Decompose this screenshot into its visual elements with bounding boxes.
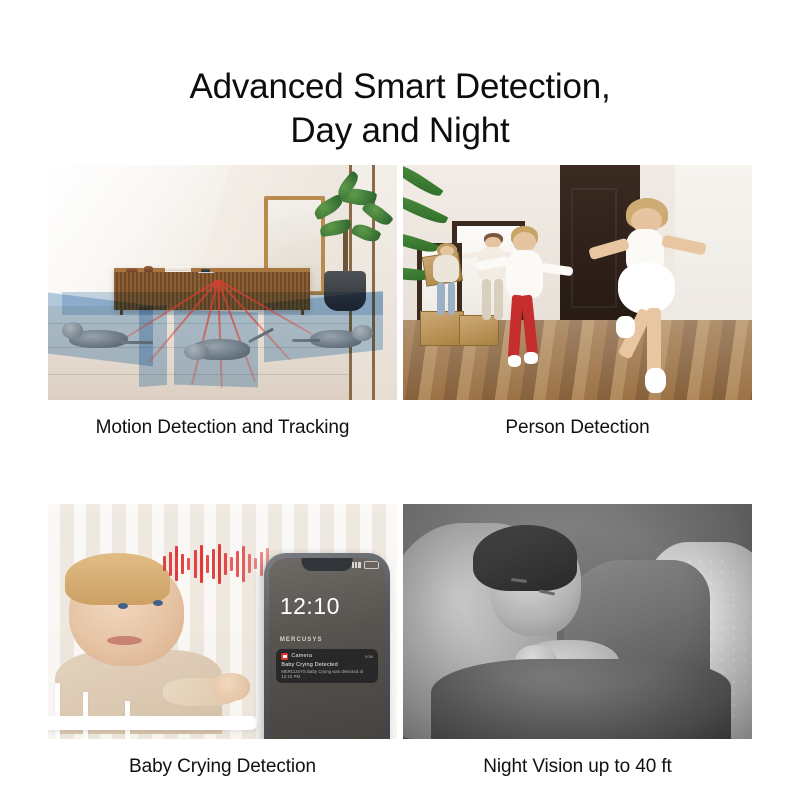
feature-caption-person-detection: Person Detection [403,400,752,440]
notification-card[interactable]: Camera now Baby Crying Detected MERCUSYS… [276,649,378,684]
phone-status-bar [352,561,379,569]
vase [144,266,154,272]
baby-hand [212,673,250,701]
page-title-line-2: Day and Night [0,109,800,153]
cat-head [184,344,208,360]
phone-screen[interactable]: 12:10 MERCUSYS Camera now Baby Crying De… [269,558,385,739]
smartphone[interactable]: 12:10 MERCUSYS Camera now Baby Crying De… [264,553,390,739]
baby-hair [65,553,170,605]
vignette [403,504,752,739]
crib-rail [48,716,257,730]
feature-caption-night-vision: Night Vision up to 40 ft [403,739,752,779]
page-title-line-1: Advanced Smart Detection, [0,65,800,109]
signal-icon [352,562,361,568]
notification-title: Baby Crying Detected [281,662,373,668]
night-vision-scene [403,504,752,739]
cat-head [62,322,83,338]
feature-card-night-vision[interactable]: Night Vision up to 40 ft [403,504,752,779]
living-room-scene [48,165,397,400]
feature-caption-baby-crying-detection: Baby Crying Detection [48,739,397,779]
motion-detection-image [48,165,397,400]
baby-crying-detection-image: 12:10 MERCUSYS Camera now Baby Crying De… [48,504,397,739]
feature-grid: Motion Detection and Tracking [48,165,752,779]
child-figure-girl [595,198,700,395]
cat-tail [121,341,152,344]
hallway-scene [403,165,752,400]
feature-card-person-detection[interactable]: Person Detection [403,165,752,440]
person-detection-image [403,165,752,400]
battery-icon [364,561,379,569]
notification-subtitle: MERCUSYS Baby Crying was detected at 12:… [281,669,373,679]
notification-app-name: Camera [291,653,312,659]
feature-card-baby-crying-detection[interactable]: 12:10 MERCUSYS Camera now Baby Crying De… [48,504,397,779]
cat-tail [292,339,320,342]
security-camera-icon [201,269,210,273]
lockscreen-clock: 12:10 [280,595,340,618]
vase [126,268,138,273]
night-vision-image [403,504,752,739]
page-title: Advanced Smart Detection, Day and Night [0,65,800,153]
notification-timestamp: now [365,654,373,659]
feature-caption-motion-detection: Motion Detection and Tracking [48,400,397,440]
baby-eye [118,603,128,609]
baby-mouth [107,636,142,645]
books [165,270,190,273]
nursery-scene: 12:10 MERCUSYS Camera now Baby Crying De… [48,504,397,739]
cat-head [352,325,373,341]
page-root: Advanced Smart Detection, Day and Night [0,0,800,800]
child-figure-boy [494,226,557,376]
notification-header: Camera now [281,653,373,660]
brand-label: MERCUSYS [280,637,323,643]
camera-app-icon [281,653,288,660]
crib-bar [55,683,60,739]
feature-card-motion-detection[interactable]: Motion Detection and Tracking [48,165,397,440]
phone-notch [302,558,353,571]
